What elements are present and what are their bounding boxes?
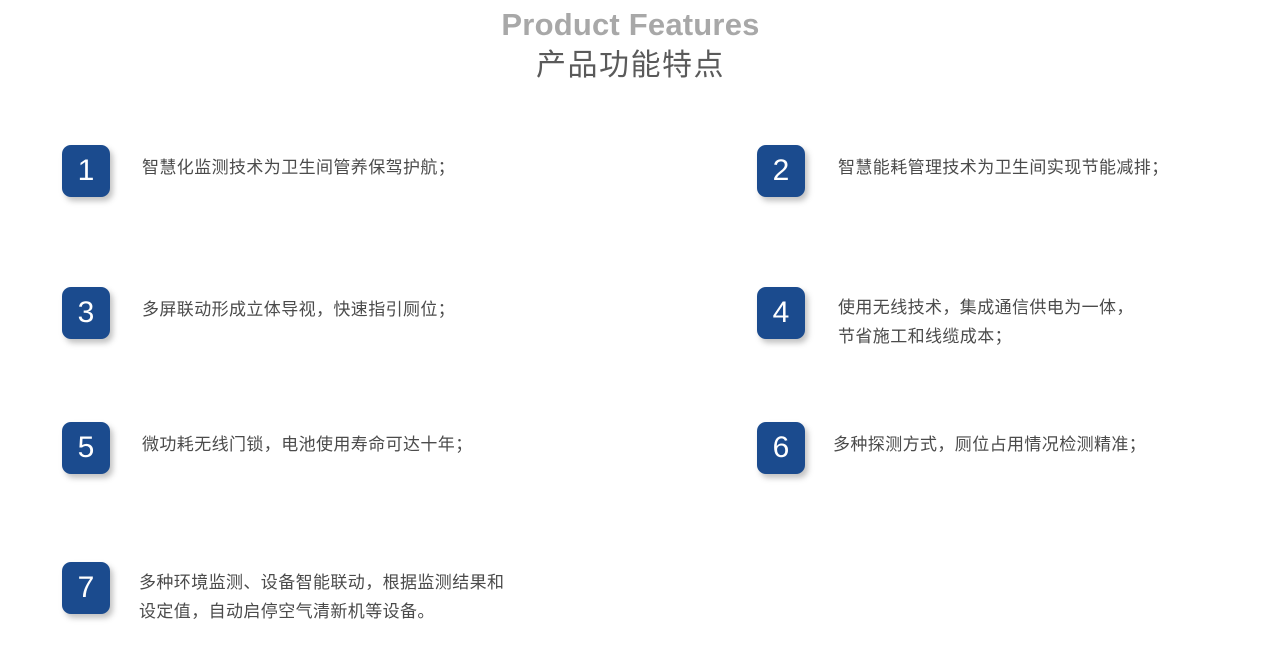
title-chinese: 产品功能特点 [0,44,1261,88]
feature-item-1: 1 智慧化监测技术为卫生间管养保驾护航； [62,145,455,197]
feature-item-5: 5 微功耗无线门锁，电池使用寿命可达十年； [62,422,473,474]
feature-item-6: 6 多种探测方式，厕位占用情况检测精准； [757,422,1146,474]
feature-list: 1 智慧化监测技术为卫生间管养保驾护航； 2 智慧能耗管理技术为卫生间实现节能减… [0,128,1261,661]
feature-number-badge-6: 6 [757,422,805,474]
feature-number-badge-7: 7 [62,562,110,614]
feature-text-5: 微功耗无线门锁，电池使用寿命可达十年； [142,422,473,459]
feature-number-badge-2: 2 [757,145,805,197]
feature-text-2: 智慧能耗管理技术为卫生间实现节能减排； [838,145,1169,182]
feature-text-1: 智慧化监测技术为卫生间管养保驾护航； [142,145,455,182]
feature-item-7: 7 多种环境监测、设备智能联动，根据监测结果和 设定值，自动启停空气清新机等设备… [62,562,504,626]
feature-number-badge-4: 4 [757,287,805,339]
feature-item-4: 4 使用无线技术，集成通信供电为一体， 节省施工和线缆成本； [757,287,1134,351]
feature-number-badge-1: 1 [62,145,110,197]
feature-number-badge-3: 3 [62,287,110,339]
feature-item-3: 3 多屏联动形成立体导视，快速指引厕位； [62,287,455,339]
feature-number-badge-5: 5 [62,422,110,474]
feature-text-3: 多屏联动形成立体导视，快速指引厕位； [142,287,455,324]
feature-item-2: 2 智慧能耗管理技术为卫生间实现节能减排； [757,145,1169,197]
page-title: Product Features 产品功能特点 [0,0,1261,88]
feature-text-4: 使用无线技术，集成通信供电为一体， 节省施工和线缆成本； [838,287,1134,351]
feature-text-6: 多种探测方式，厕位占用情况检测精准； [833,422,1146,459]
feature-text-7: 多种环境监测、设备智能联动，根据监测结果和 设定值，自动启停空气清新机等设备。 [139,562,504,626]
title-english: Product Features [0,6,1261,44]
